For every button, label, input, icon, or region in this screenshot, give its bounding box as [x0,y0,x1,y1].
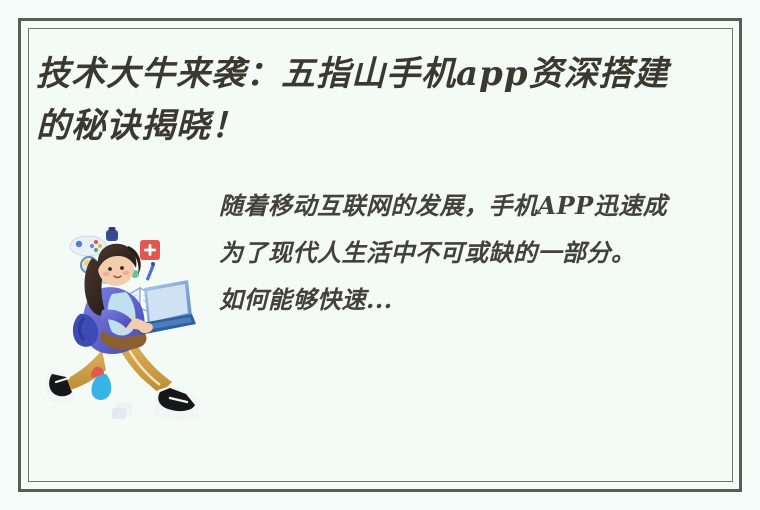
poster-content: 技术大牛来袭：五指山手机app资深搭建 的秘诀揭晓！ 随着移动互联网的发展，手机… [0,0,760,510]
cheek-right [123,271,130,275]
eye-left [108,267,112,271]
title-line-1: 技术大牛来袭：五指山手机app资深搭建 [36,48,760,100]
character-group [44,244,200,420]
pen-icon [146,262,155,281]
first-aid-book-icon [140,240,160,260]
eye-right [120,266,124,270]
body-line-1: 随着移动互联网的发展，手机APP迅速成 [219,182,760,229]
back-sneaker [44,372,74,403]
cube-icon [106,227,118,241]
title-line-2: 的秘诀揭晓！ [36,100,760,152]
white-blocks-prop [112,402,132,419]
cheek-left [103,272,110,276]
student-with-laptop-illustration [40,222,220,434]
poster-body: 随着移动互联网的发展，手机APP迅速成 为了现代人生活中不可或缺的一部分。 如何… [219,182,760,323]
poster-title: 技术大牛来袭：五指山手机app资深搭建 的秘诀揭晓！ [36,48,760,152]
poster-card: 技术大牛来袭：五指山手机app资深搭建 的秘诀揭晓！ 随着移动互联网的发展，手机… [0,0,760,510]
body-line-3: 如何能够快速... [219,276,760,323]
front-sneaker [154,386,200,420]
body-line-2: 为了现代人生活中不可或缺的一部分。 [219,229,760,276]
